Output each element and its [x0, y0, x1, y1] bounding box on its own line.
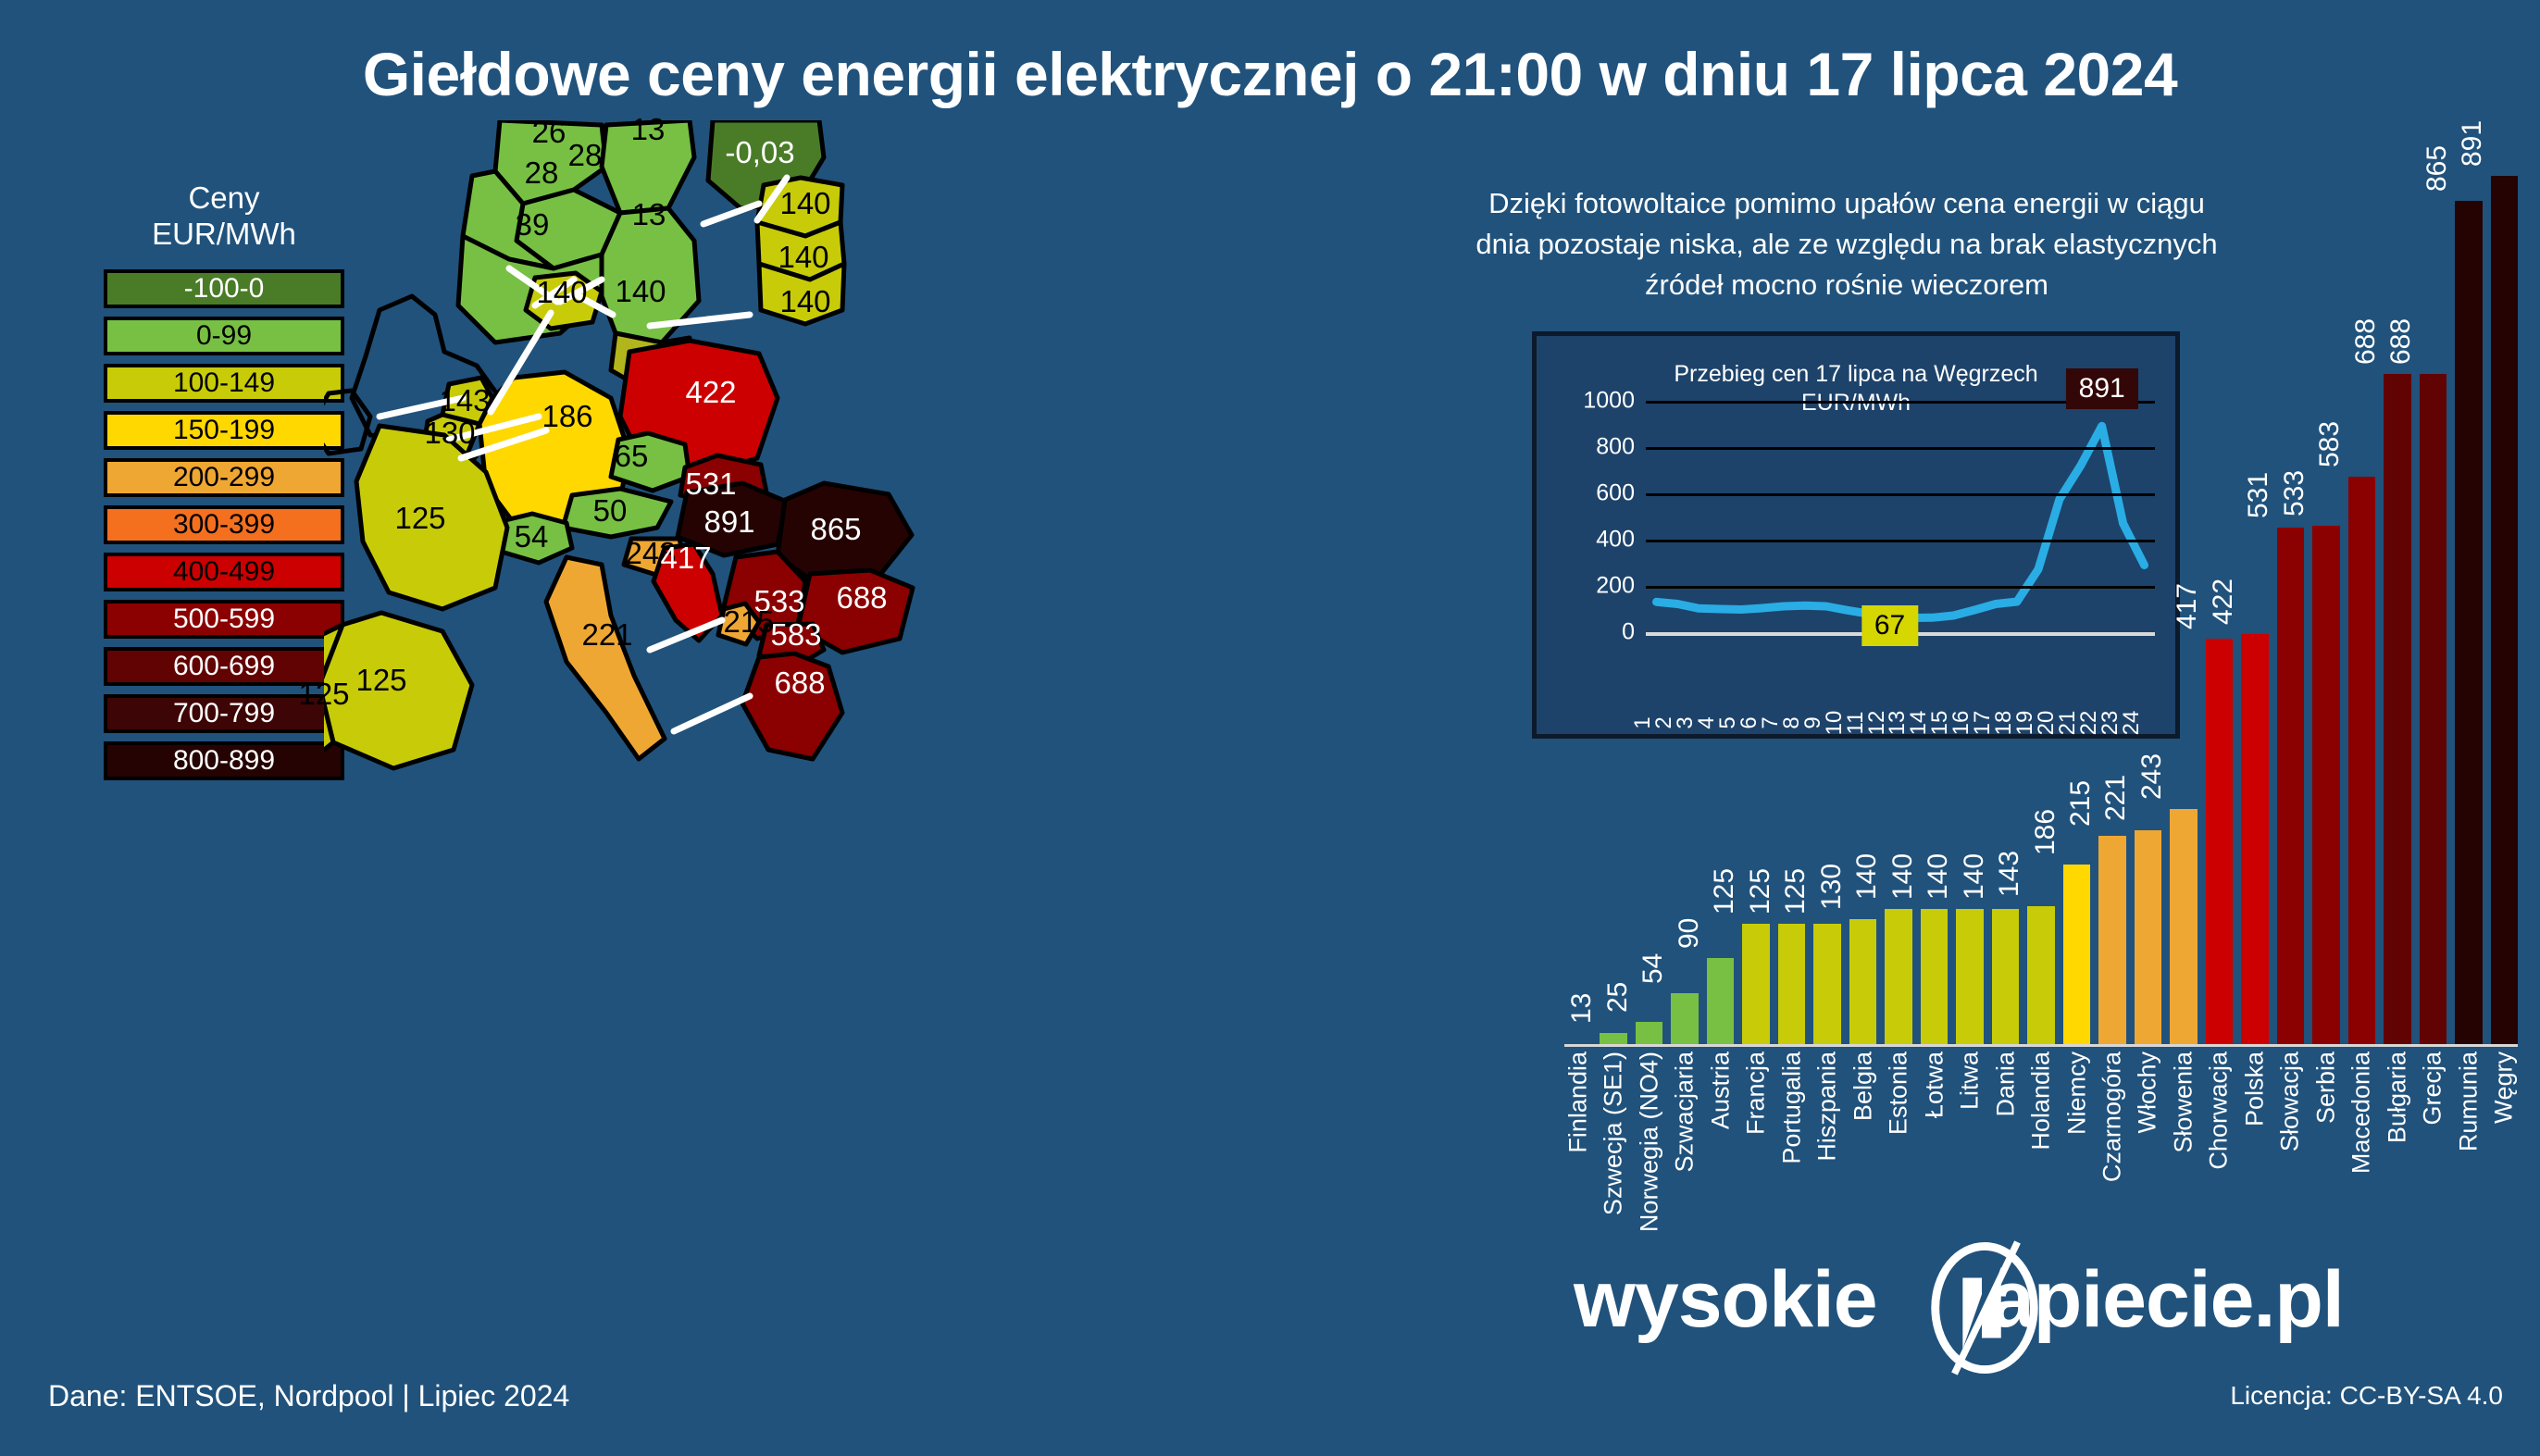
bar-niemcy	[2063, 865, 2090, 1046]
bar-label-slot: Holandia	[2027, 1048, 2054, 1166]
bar-category-label: Włochy	[2134, 1052, 2162, 1134]
bar-value-label: 140	[1959, 853, 1990, 900]
legend-item-1: 0-99	[104, 317, 344, 355]
bar-category-label: Czarnogóra	[2098, 1052, 2127, 1182]
bar-label-slot: Niemcy	[2063, 1048, 2090, 1166]
legend-item-4: 200-299	[104, 458, 344, 497]
bar-value-label: 54	[1637, 953, 1669, 984]
license-note: Licencja: CC-BY-SA 4.0	[2230, 1381, 2503, 1411]
bar-value-label: 865	[2422, 145, 2453, 192]
bar-value-label: 215	[2065, 780, 2097, 827]
bar-portugalia	[1778, 924, 1805, 1046]
bar-column: 688	[2420, 176, 2447, 1046]
bar-column: 865	[2455, 176, 2482, 1046]
bar-litwa	[1956, 909, 1983, 1046]
bar-category-label: Szwecja (SE1)	[1600, 1052, 1628, 1215]
bar-column: 140	[1921, 176, 1948, 1046]
bar-serbia	[2312, 526, 2339, 1046]
bar-label-slot: Włochy	[2135, 1048, 2161, 1166]
bar-value-label: 13	[1566, 993, 1598, 1024]
bar-category-label: Finlandia	[1563, 1052, 1592, 1153]
bar-column: 186	[2063, 176, 2090, 1046]
bar-value-label: 140	[1851, 853, 1883, 900]
bar-column: 891	[2491, 176, 2518, 1046]
bar-label-slot: Węgry	[2491, 1048, 2518, 1166]
bar-label-slot: Litwa	[1956, 1048, 1983, 1166]
bar--otwa	[1921, 909, 1948, 1046]
bar-value-label: 243	[2136, 753, 2168, 800]
bar-category-label: Łotwa	[1920, 1052, 1949, 1118]
site-logo[interactable]: wysokieNNapiecie.pl	[1574, 1254, 2499, 1365]
bar-w-ochy	[2135, 830, 2161, 1046]
bar-label-slot: Norwegia (NO4)	[1636, 1048, 1662, 1166]
bar-label-slot: Dania	[1992, 1048, 2019, 1166]
infographic-root: Giełdowe ceny energii elektrycznej o 21:…	[0, 0, 2540, 1456]
bar-category-labels: FinlandiaSzwecja (SE1)Norwegia (NO4)Szwa…	[1564, 1048, 2518, 1166]
bar-baseline-axis	[1564, 1044, 2518, 1047]
bar-category-label: Słowenia	[2169, 1052, 2198, 1153]
bar-category-label: Bułgaria	[2383, 1052, 2411, 1143]
bar-label-slot: Chorwacja	[2206, 1048, 2233, 1166]
legend: Ceny EUR/MWh -100-00-99100-149150-199200…	[104, 180, 344, 780]
legend-item-0: -100-0	[104, 269, 344, 308]
bar-label-slot: Serbia	[2312, 1048, 2339, 1166]
bar-category-label: Polska	[2240, 1052, 2269, 1126]
bar-estonia	[1885, 909, 1911, 1046]
bar-austria	[1707, 958, 1734, 1046]
region-romania	[778, 483, 912, 583]
bar-label-slot: Francja	[1742, 1048, 1769, 1166]
country-price-bar-chart: 1325549012512512513014014014014014318621…	[1564, 120, 2518, 1166]
bar-column: 125	[1742, 176, 1769, 1046]
bar-label-slot: Szwecja (SE1)	[1600, 1048, 1626, 1166]
bar-category-label: Macedonia	[2347, 1052, 2376, 1174]
bar-column: 13	[1600, 176, 1626, 1046]
bar-label-slot: Estonia	[1885, 1048, 1911, 1166]
bar-value-label: 143	[1994, 851, 2025, 897]
bar-rumunia	[2455, 201, 2482, 1046]
bar-czarnog-ra	[2098, 836, 2125, 1046]
bar-column: 215	[2098, 176, 2125, 1046]
legend-title-line2: EUR/MWh	[104, 217, 344, 253]
region-hungary	[678, 483, 787, 555]
region-austria	[563, 489, 671, 537]
bar-label-slot: Austria	[1707, 1048, 1734, 1166]
bar-label-slot: Rumunia	[2455, 1048, 2482, 1166]
bar-column: 90	[1707, 176, 1734, 1046]
bar-szwacjaria	[1671, 993, 1698, 1046]
bar-label-slot: Słowenia	[2170, 1048, 2197, 1166]
bar-value-label: 186	[2030, 809, 2061, 855]
bar-value-label: 130	[1816, 864, 1848, 910]
bar-label-slot: Grecja	[2420, 1048, 2447, 1166]
bar-category-label: Szwacjaria	[1671, 1052, 1700, 1173]
bar-label-slot: Łotwa	[1921, 1048, 1948, 1166]
bar-category-label: Niemcy	[2062, 1052, 2091, 1135]
bar-value-label: 125	[1745, 868, 1776, 915]
bar-polska	[2241, 634, 2268, 1046]
bar-value-label: 125	[1780, 868, 1812, 915]
bar-francja	[1742, 924, 1769, 1046]
page-title: Giełdowe ceny energii elektrycznej o 21:…	[0, 39, 2540, 109]
bar-column: 54	[1671, 176, 1698, 1046]
bar-column: 140	[1956, 176, 1983, 1046]
bar-value-label: 140	[1887, 853, 1919, 900]
bar-label-slot: Bułgaria	[2384, 1048, 2410, 1166]
legend-item-6: 400-499	[104, 553, 344, 591]
legend-item-5: 300-399	[104, 505, 344, 544]
region-sweden-se1	[602, 120, 694, 213]
bar-value-label: 531	[2243, 472, 2274, 518]
bar-category-label: Litwa	[1956, 1052, 1985, 1110]
bar-value-label: 891	[2457, 120, 2488, 167]
legend-item-3: 150-199	[104, 411, 344, 450]
bar-value-label: 688	[2385, 318, 2417, 365]
bar-label-slot: Hiszpania	[1813, 1048, 1840, 1166]
bar-s-owacja	[2277, 528, 2304, 1046]
region-spain	[324, 613, 472, 768]
bar-column: 140	[1992, 176, 2019, 1046]
legend-item-2: 100-149	[104, 364, 344, 403]
bar-column: 531	[2277, 176, 2304, 1046]
bar-label-slot: Macedonia	[2348, 1048, 2375, 1166]
region-switzerland	[498, 514, 572, 563]
bar-norwegia-no4-	[1636, 1022, 1662, 1046]
bar-column: 422	[2241, 176, 2268, 1046]
legend-title-line1: Ceny	[104, 180, 344, 217]
bar-label-slot: Szwacjaria	[1671, 1048, 1698, 1166]
bar-category-label: Portugalia	[1777, 1052, 1806, 1164]
legend-item-7: 500-599	[104, 600, 344, 639]
bar-category-label: Hiszpania	[1813, 1052, 1842, 1162]
bar-column	[1564, 176, 1591, 1046]
bar-column: 688	[2384, 176, 2410, 1046]
bar-category-label: Austria	[1706, 1052, 1735, 1129]
bar-category-label: Norwegia (NO4)	[1635, 1052, 1663, 1232]
bar-series: 1325549012512512513014014014014014318621…	[1564, 176, 2518, 1046]
bar-value-label: 221	[2100, 775, 2132, 821]
bar-category-label: Dania	[1991, 1052, 2020, 1117]
bar-category-label: Belgia	[1849, 1052, 1877, 1121]
bar-column: 25	[1636, 176, 1662, 1046]
bar-category-label: Serbia	[2311, 1052, 2340, 1124]
bar-column: 583	[2348, 176, 2375, 1046]
bar-label-slot: Portugalia	[1778, 1048, 1805, 1166]
lightning-bolt-n-icon	[1916, 1238, 2053, 1378]
bar-label-slot: Polska	[2241, 1048, 2268, 1166]
bar-category-label: Holandia	[2027, 1052, 2056, 1151]
bar-value-label: 583	[2314, 421, 2346, 467]
bar-category-label: Chorwacja	[2205, 1052, 2234, 1170]
bar-category-label: Rumunia	[2454, 1052, 2483, 1151]
bar-holandia	[2027, 906, 2054, 1046]
bar-column: 125	[1778, 176, 1805, 1046]
bar-category-label: Słowacja	[2276, 1052, 2305, 1151]
region-greece	[742, 653, 842, 759]
bar-grecja	[2420, 374, 2447, 1046]
bar-w-gry	[2491, 176, 2518, 1046]
bar-column: 130	[1849, 176, 1876, 1046]
legend-item-9: 700-799	[104, 694, 344, 733]
bar-value-label: 25	[1602, 981, 1634, 1012]
bar-value-label: 125	[1709, 868, 1740, 915]
bar-value-label: 90	[1674, 918, 1705, 949]
bar-column: 125	[1813, 176, 1840, 1046]
bar-label-slot: Słowacja	[2277, 1048, 2304, 1166]
bar-value-label: 140	[1923, 853, 1954, 900]
legend-title: Ceny EUR/MWh	[104, 180, 344, 253]
bar-value-label: 417	[2172, 583, 2203, 629]
bar-column: 221	[2135, 176, 2161, 1046]
bar-hiszpania	[1813, 924, 1840, 1046]
bar-column: 140	[1885, 176, 1911, 1046]
bar-category-label: Węgry	[2490, 1052, 2519, 1124]
bar-category-label: Francja	[1742, 1052, 1771, 1135]
bar-dania	[1992, 909, 2019, 1046]
legend-item-8: 600-699	[104, 647, 344, 686]
logo-text-left: wysokie	[1574, 1255, 1877, 1344]
bar-label-slot: Belgia	[1849, 1048, 1876, 1166]
region-czechia	[611, 433, 690, 491]
bar-value-label: 422	[2208, 579, 2239, 625]
legend-item-list: -100-00-99100-149150-199200-299300-39940…	[104, 269, 344, 780]
region-italy	[546, 557, 665, 759]
bar-s-owenia	[2170, 809, 2197, 1046]
bar-column: 143	[2027, 176, 2054, 1046]
bar-column: 533	[2312, 176, 2339, 1046]
bar-belgia	[1849, 919, 1876, 1046]
bar-label-slot: Czarnogóra	[2098, 1048, 2125, 1166]
bar-chorwacja	[2206, 639, 2233, 1046]
bar-category-label: Grecja	[2419, 1052, 2447, 1126]
legend-item-10: 800-899	[104, 741, 344, 780]
source-credit: Dane: ENTSOE, Nordpool | Lipiec 2024	[48, 1379, 569, 1413]
bar-bu-garia	[2384, 374, 2410, 1046]
bar-macedonia	[2348, 477, 2375, 1046]
bar-value-label: 533	[2279, 470, 2310, 516]
bar-category-label: Estonia	[1885, 1052, 1913, 1135]
bar-value-label: 688	[2350, 318, 2382, 365]
bar-label-slot: Finlandia	[1564, 1048, 1591, 1166]
